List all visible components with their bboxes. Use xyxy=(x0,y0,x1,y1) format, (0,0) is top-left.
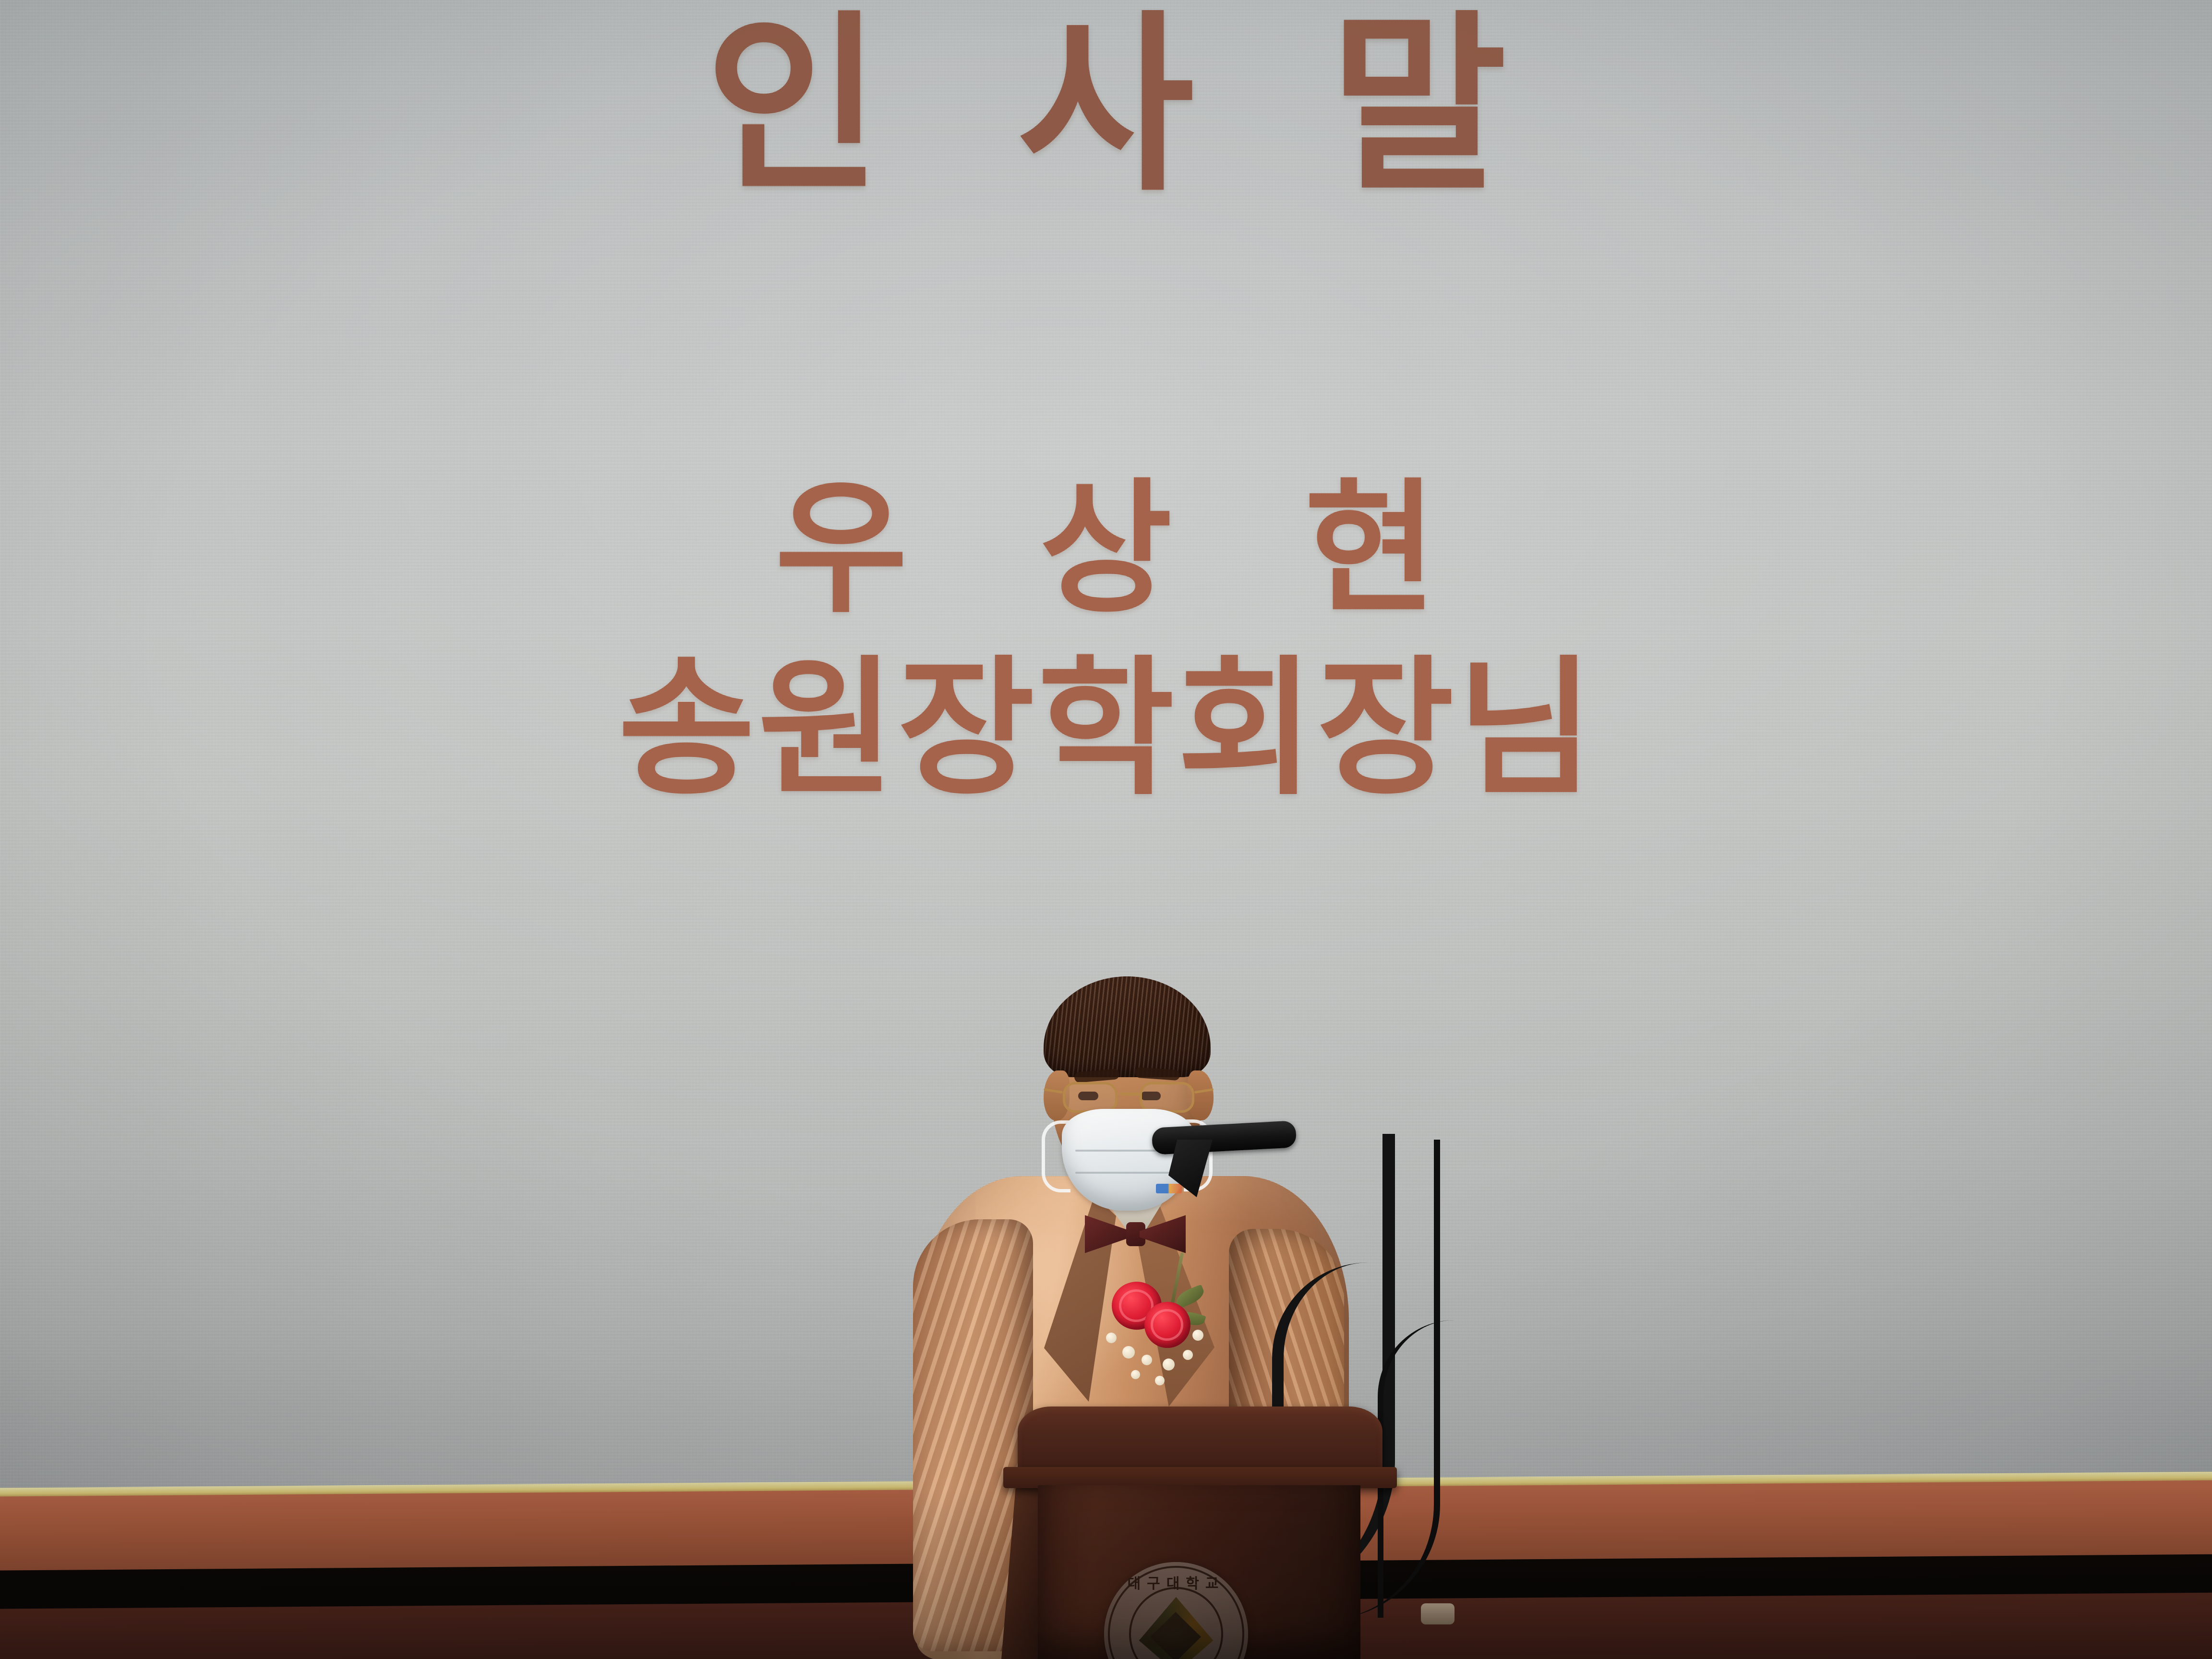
lens-right xyxy=(1140,1082,1194,1113)
babys-breath xyxy=(1122,1346,1135,1358)
slide-speaker-name: 우 상 현 xyxy=(0,475,2212,622)
lens-left xyxy=(1063,1082,1118,1113)
stage-photo: 인 사 말 우 상 현 송원장학회장님 xyxy=(0,0,2212,1659)
bow-tie-knot xyxy=(1126,1222,1145,1246)
cable-clip xyxy=(1421,1603,1455,1624)
slide-speaker-role: 송원장학회장님 xyxy=(0,653,2212,805)
babys-breath xyxy=(1106,1333,1117,1343)
emblem-korean-text: 대구대학교 xyxy=(1104,1572,1248,1593)
babys-breath xyxy=(1142,1355,1152,1365)
babys-breath xyxy=(1131,1370,1140,1379)
slide-title: 인 사 말 xyxy=(0,8,2212,204)
university-emblem: 대구대학교 DAEGU UNIVERSITY 1956 xyxy=(1104,1562,1248,1659)
glasses-bridge xyxy=(1119,1093,1140,1095)
hair xyxy=(1044,976,1211,1077)
